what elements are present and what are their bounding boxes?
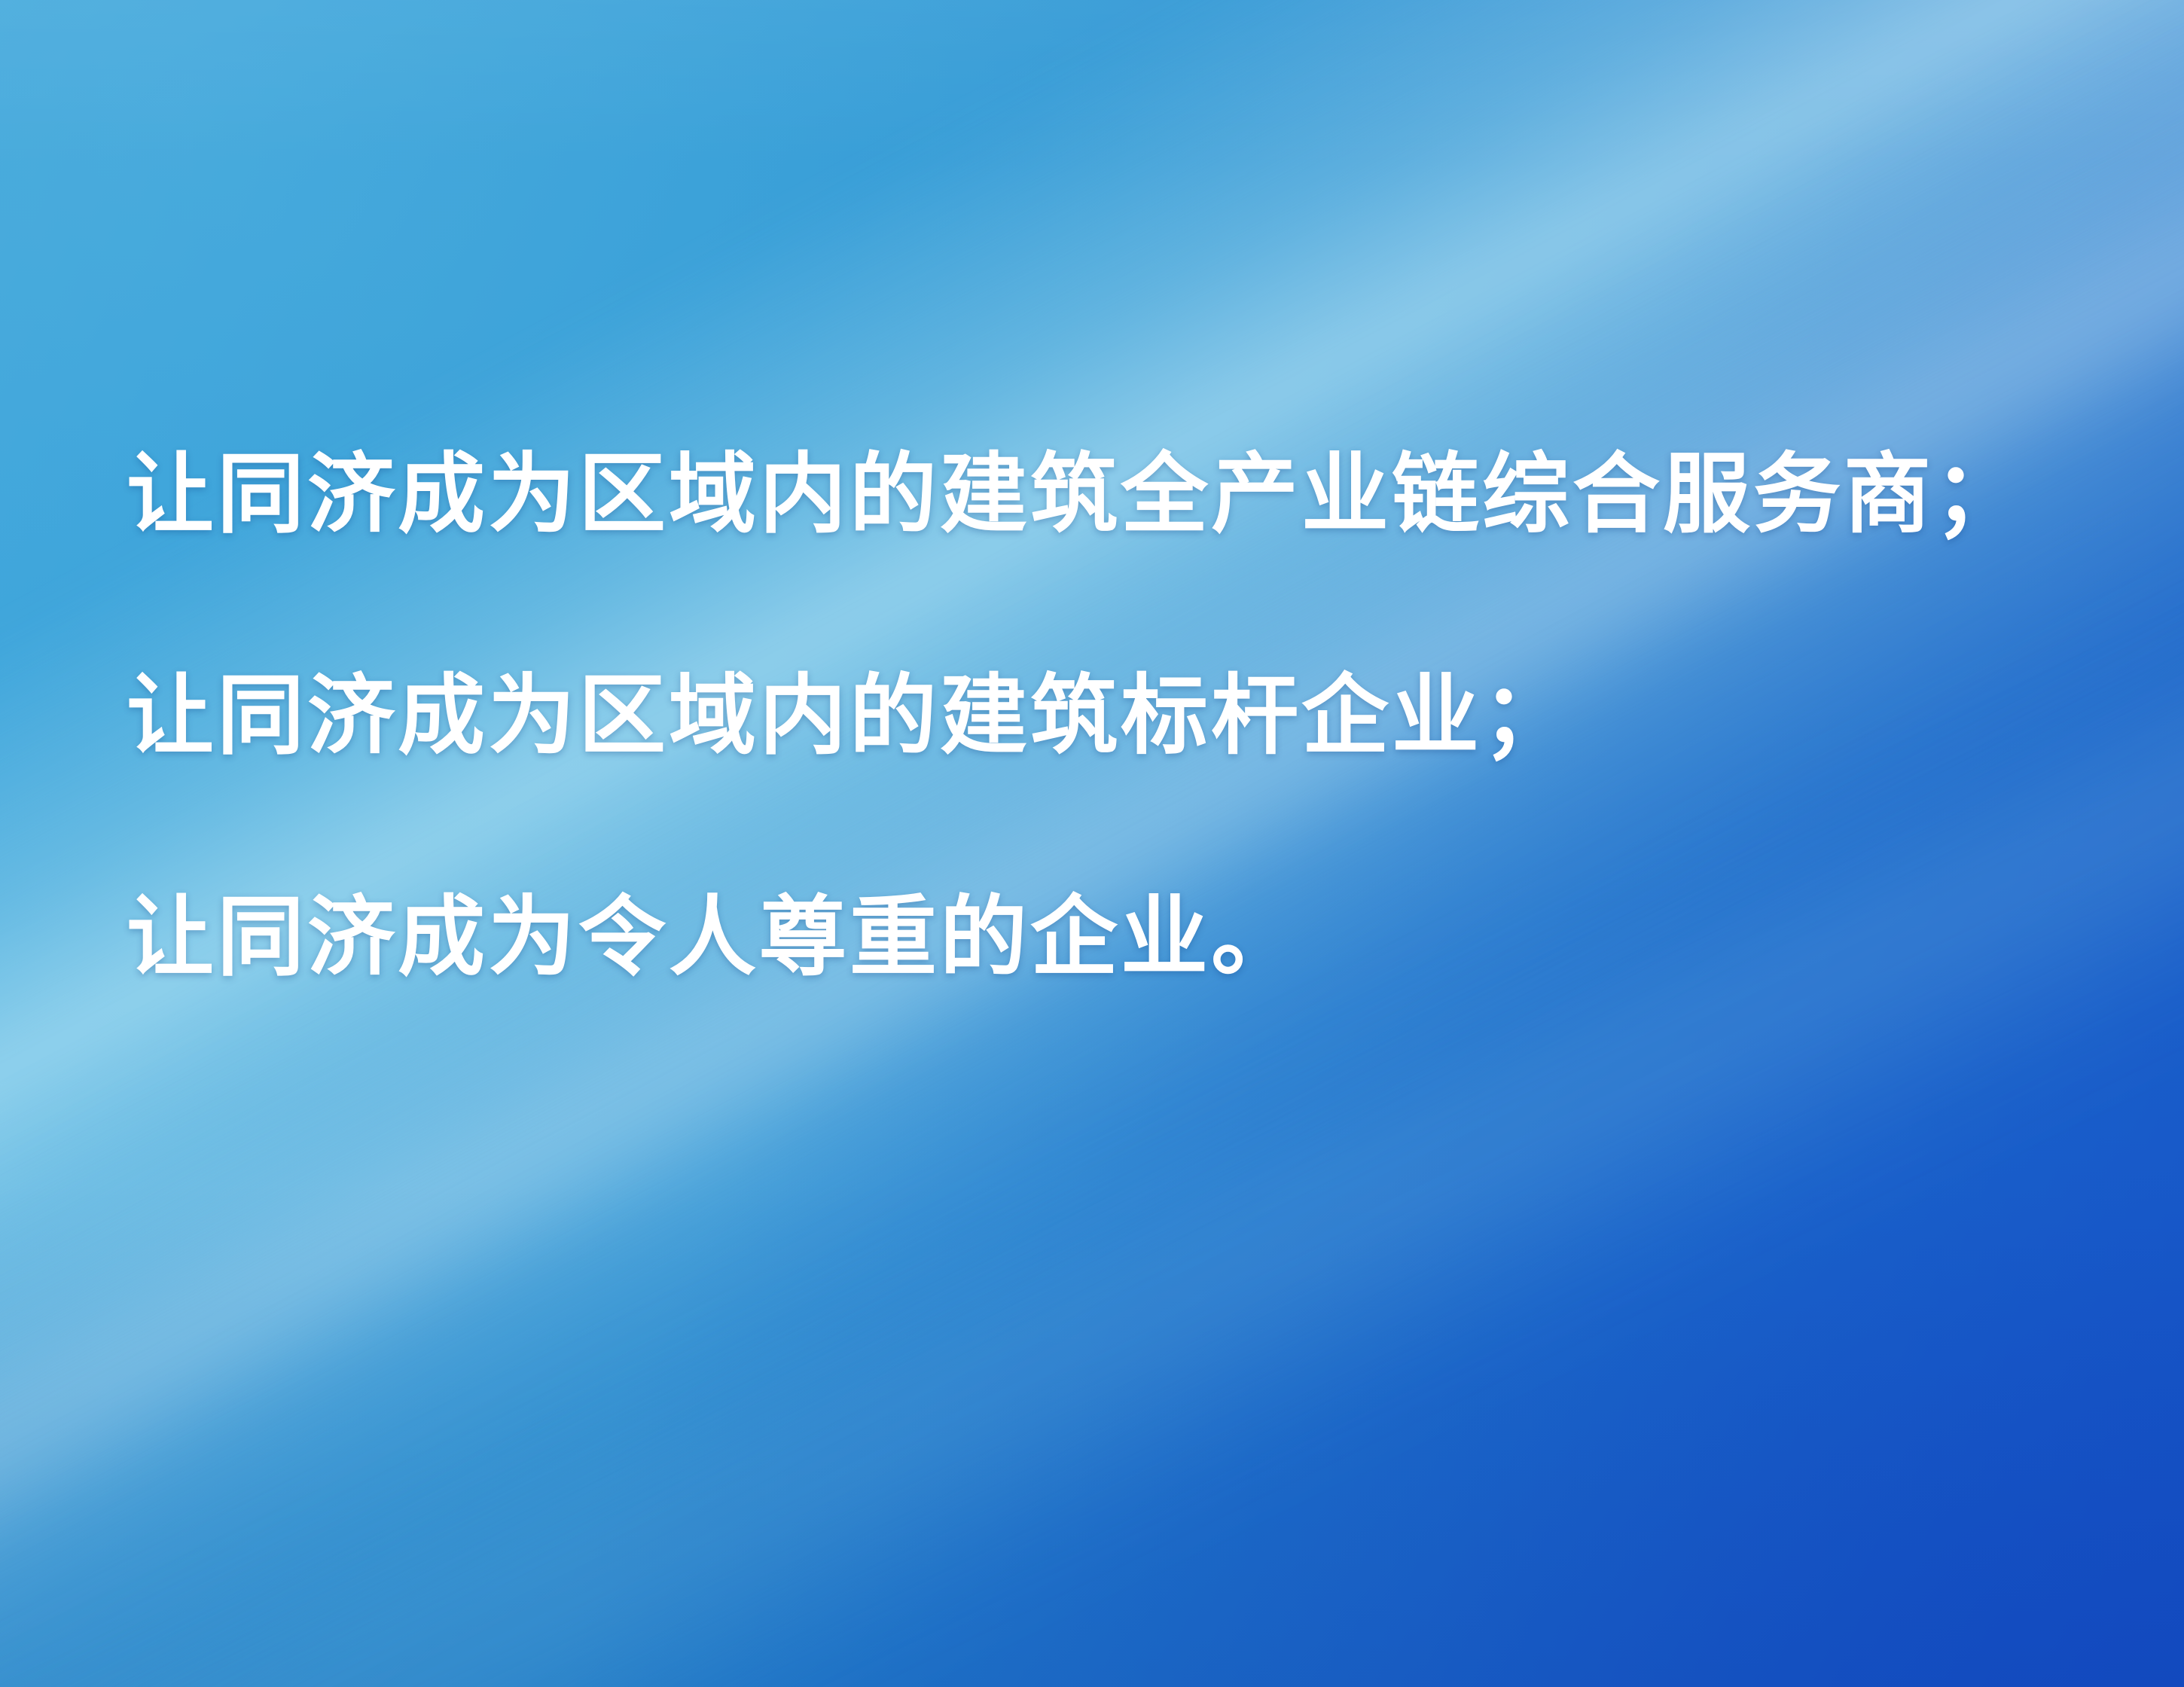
presentation-slide: 让同济成为区域内的建筑全产业链综合服务商； 让同济成为区域内的建筑标杆企业； 让… bbox=[0, 0, 2184, 1687]
slogan-line-2: 让同济成为区域内的建筑标杆企业； bbox=[127, 672, 2054, 759]
slogan-line-3: 让同济成为令人尊重的企业。 bbox=[127, 893, 2054, 981]
slogan-line-1: 让同济成为区域内的建筑全产业链综合服务商； bbox=[127, 450, 2054, 538]
slogan-text-block: 让同济成为区域内的建筑全产业链综合服务商； 让同济成为区域内的建筑标杆企业； 让… bbox=[127, 450, 2054, 981]
